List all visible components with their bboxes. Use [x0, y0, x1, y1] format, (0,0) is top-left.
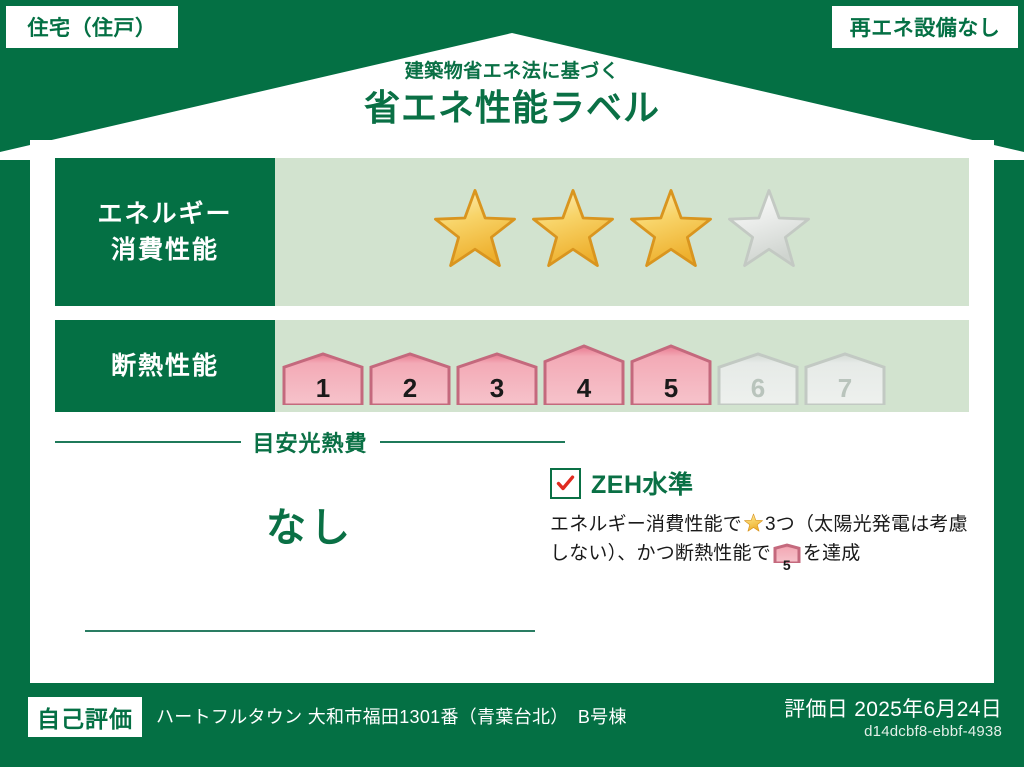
house-grade-icon: 5: [772, 542, 802, 572]
energy-performance-row: エネルギー 消費性能: [55, 158, 969, 306]
utility-cost-value: なし: [55, 495, 565, 553]
insulation-grade-5: 5: [629, 343, 713, 410]
heading-rule-left: [55, 441, 241, 443]
star-icon: [429, 186, 521, 278]
page-title: 省エネ性能ラベル: [0, 85, 1024, 130]
renewable-energy-badge: 再エネ設備なし: [832, 6, 1018, 48]
property-name: ハートフルタウン 大和市福田1301番（青葉台北） B号棟: [156, 703, 627, 729]
evaluation-type-badge: 自己評価: [28, 697, 142, 737]
house-grade-shape: [629, 343, 713, 405]
title-block: 建築物省エネ法に基づく 省エネ性能ラベル: [0, 62, 1024, 130]
star-4: [723, 186, 815, 278]
insulation-label-text: 断熱性能: [111, 348, 219, 384]
insulation-grade-7: 7: [803, 351, 887, 410]
house-grade-shape: [542, 343, 626, 405]
star-icon: [723, 186, 815, 278]
house-grade-shape: [716, 351, 800, 405]
zeh-title: ZEH水準: [591, 465, 694, 501]
zeh-description: エネルギー消費性能で3つ（太陽光発電は考慮しない）、かつ断熱性能で5を達成: [550, 510, 970, 573]
insulation-grade-2: 2: [368, 351, 452, 410]
utility-cost-title: 目安光熱費: [253, 426, 368, 458]
utility-cost-heading: 目安光熱費: [55, 426, 565, 458]
zeh-header: ZEH水準: [550, 465, 970, 501]
energy-performance-label: エネルギー 消費性能: [55, 158, 275, 306]
insulation-grade-6: 6: [716, 351, 800, 410]
star-1: [429, 186, 521, 278]
renewable-energy-label: 再エネ設備なし: [850, 12, 1001, 42]
star-icon: [527, 186, 619, 278]
zeh-standard-block: ZEH水準 エネルギー消費性能で3つ（太陽光発電は考慮しない）、かつ断熱性能で5…: [550, 465, 970, 573]
house-grade-shape: [455, 351, 539, 405]
energy-label-line1: エネルギー: [97, 196, 232, 232]
star-icon: [743, 513, 764, 534]
check-icon: [556, 474, 575, 493]
insulation-grade-4: 4: [542, 343, 626, 410]
inline-grade-value: 5: [772, 558, 802, 572]
heading-rule-right: [380, 441, 566, 443]
building-type-label: 住宅（住戸）: [28, 12, 157, 42]
title-subtitle: 建築物省エネ法に基づく: [0, 62, 1024, 83]
insulation-performance-row: 断熱性能 1234567: [55, 320, 969, 412]
document-id: d14dcbf8-ebbf-4938: [864, 723, 1002, 740]
star-2: [527, 186, 619, 278]
insulation-grade-1: 1: [281, 351, 365, 410]
house-grade-shape: [368, 351, 452, 405]
zeh-desc-part2: 3つ（太陽光発電: [765, 514, 910, 535]
zeh-checkbox[interactable]: [550, 468, 581, 499]
utility-bottom-rule: [85, 630, 535, 632]
house-grade-shape: [281, 351, 365, 405]
insulation-grade-scale: 1234567: [275, 320, 969, 412]
insulation-performance-label: 断熱性能: [55, 320, 275, 412]
house-grade-shape: [803, 351, 887, 405]
building-type-badge: 住宅（住戸）: [6, 6, 178, 48]
star-icon: [743, 513, 764, 534]
evaluation-date: 評価日 2025年6月24日: [784, 693, 1002, 723]
footer: 自己評価 ハートフルタウン 大和市福田1301番（青葉台北） B号棟 評価日 2…: [0, 683, 1024, 767]
zeh-desc-part4: を達成: [803, 543, 861, 564]
zeh-desc-part1: エネルギー消費性能で: [550, 514, 742, 535]
energy-label-line2: 消費性能: [111, 232, 219, 268]
label-card: エネルギー 消費性能 断熱性能 1234567 目安光熱費 なし ZEH水準: [30, 140, 994, 683]
star-icon: [625, 186, 717, 278]
star-3: [625, 186, 717, 278]
star-rating: [275, 158, 969, 306]
insulation-grade-3: 3: [455, 351, 539, 410]
